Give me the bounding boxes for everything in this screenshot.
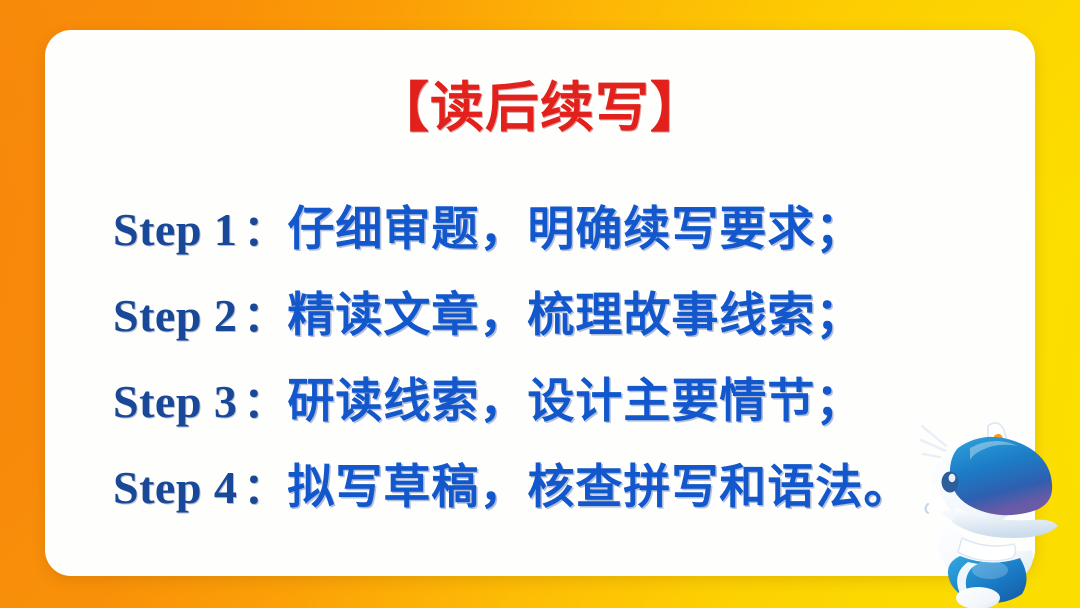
step-text: 拟写草稿，核查拼写和语法。 [287, 448, 911, 517]
step-label: Step 2 [113, 289, 237, 342]
step-colon: ： [243, 283, 285, 344]
list-item: Step 4 ： 拟写草稿，核查拼写和语法。 [113, 448, 995, 534]
step-label: Step 3 [113, 375, 237, 428]
page-title: 【读后续写】 [45, 80, 1035, 137]
list-item: Step 2 ： 精读文章，梳理故事线索； [113, 276, 995, 362]
list-item: Step 1 ： 仔细审题，明确续写要求； [113, 190, 995, 276]
step-text: 精读文章，梳理故事线索； [287, 276, 863, 345]
step-label: Step 1 [113, 203, 237, 256]
step-text: 仔细审题，明确续写要求； [287, 190, 863, 259]
list-item: Step 3 ： 研读线索，设计主要情节； [113, 362, 995, 448]
content-card: 【读后续写】 Step 1 ： 仔细审题，明确续写要求； Step 2 ： 精读… [45, 30, 1035, 576]
step-label: Step 4 [113, 461, 237, 514]
step-text: 研读线索，设计主要情节； [287, 362, 863, 431]
step-colon: ： [243, 369, 285, 430]
slide-canvas: 【读后续写】 Step 1 ： 仔细审题，明确续写要求； Step 2 ： 精读… [0, 0, 1080, 608]
step-colon: ： [243, 197, 285, 258]
step-colon: ： [243, 455, 285, 516]
steps-list: Step 1 ： 仔细审题，明确续写要求； Step 2 ： 精读文章，梳理故事… [113, 190, 995, 534]
